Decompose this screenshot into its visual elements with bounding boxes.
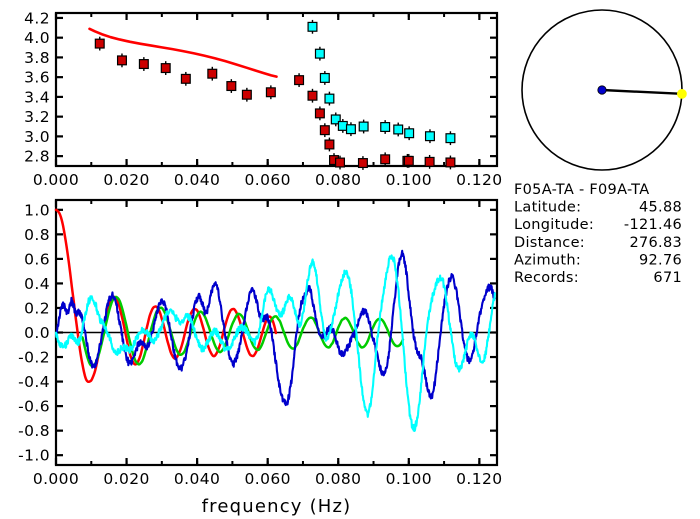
x-tick-label: 0.040: [174, 171, 220, 189]
data-point-marker: [227, 82, 236, 91]
data-point-marker: [336, 158, 345, 167]
data-point-marker: [161, 64, 170, 73]
x-tick-label: 0.100: [386, 171, 432, 189]
data-point-marker: [308, 91, 317, 100]
data-point-marker: [405, 129, 414, 138]
x-tick-label: 0.080: [315, 171, 361, 189]
x-tick-label: 0.040: [174, 470, 220, 488]
azimuth-row-label: Azimuth:: [514, 252, 581, 268]
data-point-marker: [394, 125, 403, 134]
data-point-marker: [295, 76, 304, 85]
data-point-marker: [320, 74, 329, 83]
data-point-marker: [181, 74, 190, 83]
y-tick-label: -0.4: [18, 373, 50, 391]
data-point-marker: [404, 156, 413, 165]
azimuth-row-value: 92.76: [639, 252, 682, 268]
x-axis-title: frequency (Hz): [202, 496, 352, 517]
data-point-marker: [308, 22, 317, 31]
latitude-row-label: Latitude:: [514, 200, 581, 216]
data-point-marker: [446, 158, 455, 167]
y-tick-label: 4.0: [24, 29, 50, 47]
data-point-marker: [315, 109, 324, 118]
remote-station-dot: [677, 89, 686, 98]
x-tick-label: 0.000: [33, 470, 79, 488]
x-tick-label: 0.120: [456, 171, 502, 189]
x-tick-label: 0.020: [103, 470, 149, 488]
y-tick-label: 1.0: [24, 201, 50, 219]
higher-mode-measurements: [308, 20, 455, 145]
y-tick-label: 0.0: [24, 324, 50, 342]
x-tick-label: 0.060: [244, 171, 290, 189]
y-tick-label: 0.6: [24, 250, 50, 268]
data-point-marker: [320, 126, 329, 135]
data-point-marker: [325, 140, 334, 149]
data-point-marker: [347, 125, 356, 134]
data-point-marker: [95, 39, 104, 48]
x-tick-label: 0.100: [386, 470, 432, 488]
y-tick-label: -0.8: [18, 422, 50, 440]
data-point-marker: [426, 132, 435, 141]
longitude-row-value: -121.46: [624, 217, 682, 233]
y-tick-label: 3.8: [24, 49, 50, 67]
y-tick-label: 0.8: [24, 226, 50, 244]
data-point-marker: [381, 155, 390, 164]
x-tick-label: 0.060: [244, 470, 290, 488]
center-station-dot: [598, 86, 606, 94]
data-point-marker: [315, 49, 324, 58]
data-point-marker: [359, 122, 368, 131]
y-tick-label: 0.2: [24, 299, 50, 317]
y-tick-label: 3.6: [24, 69, 50, 87]
dispersion-axes-frame: [56, 13, 497, 166]
y-tick-label: -0.6: [18, 398, 50, 416]
y-tick-label: 3.4: [24, 88, 50, 106]
data-point-marker: [208, 69, 217, 78]
x-tick-label: 0.120: [456, 470, 502, 488]
station-info-block: F05A-TA - F09A-TALatitude:45.88Longitude…: [514, 182, 682, 286]
y-tick-label: 3.0: [24, 128, 50, 146]
data-point-marker: [381, 123, 390, 132]
distance-row-label: Distance:: [514, 235, 585, 251]
y-tick-label: 4.2: [24, 9, 50, 27]
x-tick-label: 0.020: [103, 171, 149, 189]
y-tick-label: -1.0: [18, 447, 50, 465]
fundamental-mode-measurements: [95, 37, 454, 170]
reference-curve: [90, 29, 277, 77]
spectra-data: [56, 210, 495, 431]
data-point-marker: [139, 60, 148, 69]
x-tick-label: 0.080: [315, 470, 361, 488]
latitude-row-value: 45.88: [639, 200, 682, 216]
y-tick-label: -0.2: [18, 349, 50, 367]
data-point-marker: [242, 90, 251, 99]
y-tick-label: 3.2: [24, 108, 50, 126]
data-point-marker: [118, 56, 127, 65]
station-pair-label: F05A-TA - F09A-TA: [514, 182, 649, 198]
records-row-label: Records:: [514, 270, 579, 286]
figure-canvas: 0.0000.0200.0400.0600.0800.1000.1202.83.…: [0, 0, 700, 519]
data-point-marker: [425, 157, 434, 166]
records-row-value: 671: [653, 270, 682, 286]
distance-row-value: 276.83: [629, 235, 682, 251]
longitude-row-label: Longitude:: [514, 217, 594, 233]
dispersion-data: [90, 20, 455, 170]
data-point-marker: [266, 88, 275, 97]
plot-svg: 0.0000.0200.0400.0600.0800.1000.1202.83.…: [0, 0, 700, 519]
spectrum-trace-cyan-raw: [56, 255, 495, 431]
x-tick-label: 0.000: [33, 171, 79, 189]
data-point-marker: [359, 159, 368, 168]
data-point-marker: [325, 94, 334, 103]
y-tick-label: 2.8: [24, 148, 50, 166]
data-point-marker: [446, 134, 455, 143]
station-map: [522, 10, 687, 170]
y-tick-label: 0.4: [24, 275, 50, 293]
data-point-marker: [338, 122, 347, 131]
